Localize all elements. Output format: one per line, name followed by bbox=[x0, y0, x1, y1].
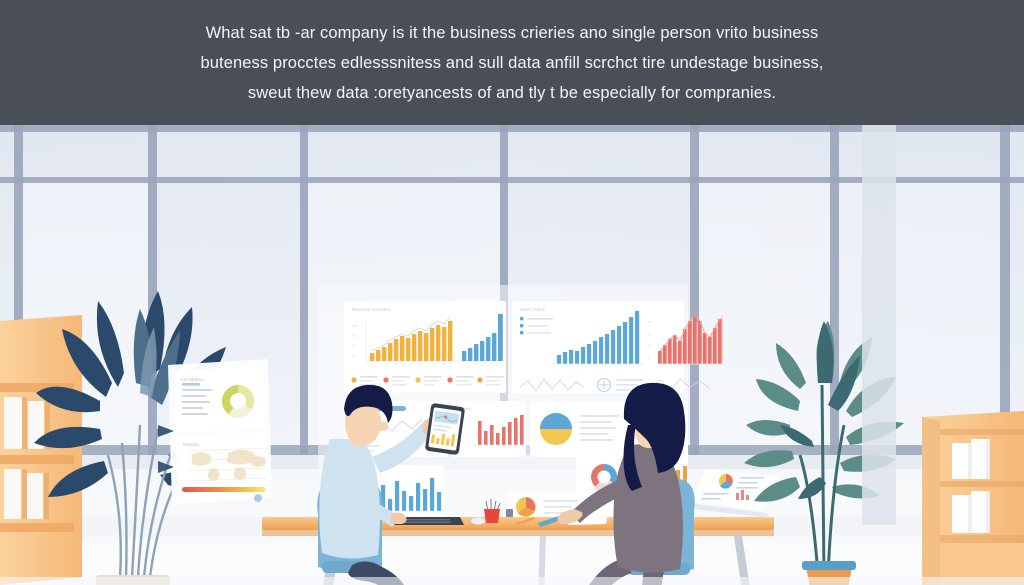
svg-text:Sales Trend: Sales Trend bbox=[520, 307, 545, 312]
svg-text:40: 40 bbox=[648, 332, 652, 336]
left-bookshelf bbox=[0, 315, 82, 585]
caption-text: What sat tb -ar company is it the busine… bbox=[142, 18, 882, 108]
caption-line-3: sweut thew data :oretyancests of and tly… bbox=[142, 78, 882, 108]
right-plant-pot-rim bbox=[802, 561, 856, 570]
tablet-device[interactable] bbox=[425, 403, 465, 455]
poster-donut-panel: Key Metrics bbox=[174, 366, 264, 433]
left-poster-board: Key Metrics bbox=[158, 359, 272, 505]
svg-text:100: 100 bbox=[352, 324, 358, 328]
svg-text:Regions: Regions bbox=[183, 442, 198, 447]
desk-box bbox=[506, 509, 513, 517]
svg-text:F: F bbox=[386, 363, 388, 367]
right-pillar bbox=[862, 125, 896, 525]
svg-text:A: A bbox=[418, 363, 420, 367]
heatmap-colour-scale bbox=[182, 487, 266, 492]
caption-line-1: What sat tb -ar company is it the busine… bbox=[142, 18, 882, 48]
floor-front-strip bbox=[0, 577, 1024, 585]
right-bookshelf bbox=[922, 411, 1024, 585]
screenshot-root: What sat tb -ar company is it the busine… bbox=[0, 0, 1024, 585]
office-illustration: Key Metrics bbox=[0, 125, 1024, 585]
svg-text:20: 20 bbox=[648, 344, 652, 348]
bottom-pie bbox=[516, 497, 536, 517]
svg-text:Key Metrics: Key Metrics bbox=[181, 377, 205, 382]
scene-svg: Key Metrics bbox=[0, 125, 1024, 585]
caption-line-2: buteness procctes edlesssnitess and sull… bbox=[142, 48, 882, 78]
share-pie-chart bbox=[540, 413, 572, 445]
svg-text:S: S bbox=[496, 363, 498, 367]
panel-revenue-overview[interactable]: Revenue Overview 10075 5025 bbox=[344, 301, 506, 393]
svg-text:50: 50 bbox=[352, 344, 356, 348]
svg-text:60: 60 bbox=[648, 320, 652, 324]
caption-banner: What sat tb -ar company is it the busine… bbox=[0, 0, 1024, 125]
panel-share-pie[interactable] bbox=[530, 401, 630, 457]
svg-text:25: 25 bbox=[352, 354, 356, 358]
poster-world-map-panel: Regions bbox=[176, 432, 270, 503]
svg-text:A: A bbox=[482, 363, 484, 367]
svg-text:75: 75 bbox=[352, 334, 356, 338]
svg-text:Revenue Overview: Revenue Overview bbox=[352, 307, 391, 312]
mouse[interactable] bbox=[471, 518, 485, 525]
